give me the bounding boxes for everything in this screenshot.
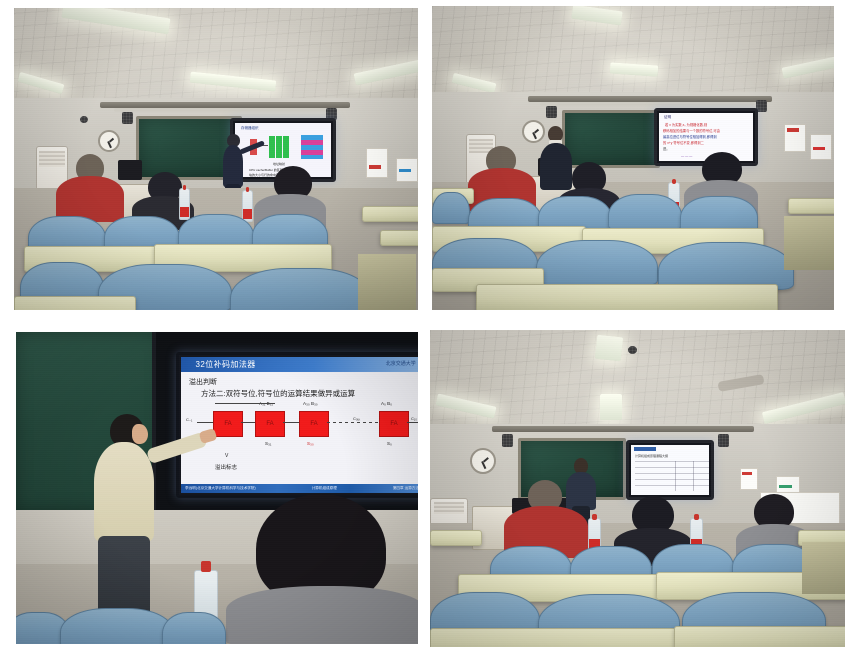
wall-poster (810, 134, 832, 160)
full-adder-block: FA (213, 411, 243, 437)
side-desk (788, 198, 834, 214)
sum-output-label: S₀ (387, 441, 392, 446)
slide-surface: 计算机组成原理课程大纲 (631, 445, 709, 495)
water-bottle (179, 188, 190, 220)
slide-bullet-2: 方法二:双符号位,符号位的运算结果做异或运算 (201, 388, 355, 399)
poster-bar (813, 147, 825, 150)
slide-bullet-1: 溢出判断 (189, 377, 217, 387)
side-desk (380, 230, 418, 246)
sum-output-label: S₃₀ (307, 441, 314, 446)
slide-body-line: 移码相加的结果与一个数的符号位,可由 (663, 128, 720, 133)
wall-speaker (546, 106, 557, 118)
wall-rail (540, 102, 754, 106)
chair (162, 612, 226, 644)
slide-input-label: A₃₀ B₃₀ (303, 401, 318, 406)
photo-grid-sheet: 存储器组织 地址映射 CPU cache/Buffer 的区别与联系 块的大小与… (0, 0, 845, 647)
side-desk (362, 206, 418, 222)
desk (476, 284, 778, 310)
carry-wire (241, 422, 255, 423)
slide-title-text: 计算机组成原理课程大纲 (635, 454, 668, 458)
photo-top-left: 存储器组织 地址映射 CPU cache/Buffer 的区别与联系 块的大小与… (14, 8, 418, 310)
poster-bar (742, 472, 752, 475)
slide-title-text: 32位补码加法器 (181, 359, 256, 370)
slide-body-line: 若 x 为实数,x₀ 为规格化数,则 (665, 122, 707, 127)
slide-table (635, 461, 709, 491)
university-logo: 北京交通大学 (386, 360, 416, 367)
chair (680, 196, 758, 232)
full-adder-block: FA (379, 411, 409, 437)
bottle-cap (592, 514, 597, 519)
bottle-cap (246, 187, 250, 192)
lecturer-face (132, 424, 148, 444)
footer-right: 第四章 运算方法 (389, 486, 418, 491)
carry-wire (407, 422, 418, 423)
wall-speaker (718, 434, 729, 447)
desk-edge (784, 216, 834, 270)
photo-top-right: 证明 若 x 为实数,x₀ 为规格化数,则 移码相加的结果与一个数的符号位,可由… (432, 6, 834, 310)
chair (536, 240, 658, 286)
ceiling-lamp (595, 335, 623, 362)
security-camera-icon (628, 346, 637, 354)
attendee-red-shirt (504, 480, 588, 556)
wall-poster (366, 148, 388, 178)
slide-block-green (283, 136, 289, 158)
water-bottle (242, 190, 253, 222)
bottle-cap (201, 561, 211, 573)
full-adder-block: FA (299, 411, 329, 437)
carry-wire (283, 422, 299, 423)
desk (430, 628, 676, 647)
poster-bar (779, 485, 792, 488)
slide-body-line: 的 x+y 符号位不变,即得到二 (663, 140, 704, 145)
wall-poster (784, 124, 806, 152)
slide-footer: 李远明(北京交通大学计算机科学与技术学院) 计算机组成原理 第四章 运算方法 (181, 484, 418, 493)
slide-block-table (301, 135, 323, 159)
slide-title-text: 证明 (664, 115, 671, 120)
carry-label: C₀ᵤₜ (353, 416, 360, 421)
attendee-body (226, 586, 418, 644)
wall-speaker (122, 112, 133, 124)
bottle-cap (694, 514, 699, 519)
wall-poster (740, 468, 758, 490)
desk-edge (358, 254, 416, 310)
bottle-cap (672, 179, 676, 184)
slide-table-col (675, 461, 676, 491)
overflow-flag-label: V (225, 453, 228, 459)
slide-title-bar: 32位补码加法器 (181, 357, 418, 372)
attendee-foreground (226, 494, 418, 644)
feedback-wire (215, 403, 275, 404)
desk (14, 296, 136, 310)
chair (60, 608, 174, 644)
lecturer-body (94, 442, 154, 542)
desk (674, 626, 845, 647)
wall-rail (114, 108, 334, 112)
photo-bottom-left: 32位补码加法器 北京交通大学 溢出判断 方法二:双符号位,符号位的运算结果做异… (16, 332, 418, 644)
bottle-label (180, 207, 189, 217)
poster-bar (399, 169, 411, 172)
ceiling-lamp (600, 394, 622, 420)
wall-speaker (502, 434, 513, 447)
full-adder-block: FA (255, 411, 285, 437)
presentation-screen: 计算机组成原理课程大纲 (626, 440, 714, 500)
carry-label: C₁₀ (411, 416, 417, 421)
poster-bar (787, 128, 799, 132)
slide-table-col (693, 461, 694, 491)
footer-center: 计算机组成原理 (308, 486, 341, 491)
presentation-screen: 32位补码加法器 北京交通大学 溢出判断 方法二:双符号位,符号位的运算结果做异… (176, 352, 418, 498)
slide-input-label: A₀ B₀ (381, 401, 392, 406)
slide-title-text: 存储器组织 (241, 126, 259, 131)
slide-block-green (269, 136, 275, 158)
slide-logo-bar (634, 447, 656, 451)
chair (432, 192, 470, 224)
slide-body-line: 最高位进位与符号位相加得到,即得到 (663, 134, 717, 139)
chair (230, 268, 372, 310)
side-desk (430, 530, 482, 546)
chair (658, 242, 794, 290)
footer-left: 李远明(北京交通大学计算机科学与技术学院) (181, 486, 260, 491)
slide-body-line: 进。 (663, 146, 670, 151)
security-camera (80, 116, 88, 123)
chair (608, 194, 682, 230)
carry-wire (327, 422, 379, 423)
chalkboard (562, 110, 660, 168)
slide-surface: 32位补码加法器 北京交通大学 溢出判断 方法二:双符号位,符号位的运算结果做异… (181, 357, 418, 493)
attendee-red-shirt (54, 154, 124, 220)
sum-output-label: S₃₁ (265, 441, 271, 446)
poster-bar (369, 165, 381, 169)
wall-clock (98, 130, 120, 152)
wall-clock (470, 448, 496, 474)
desk-edge (802, 542, 845, 594)
wall-poster (396, 158, 418, 182)
carry-label: C₋₁ (186, 417, 192, 422)
bottle-label (243, 209, 252, 219)
photo-bottom-right: 计算机组成原理课程大纲 (430, 330, 845, 647)
carry-wire (197, 422, 213, 423)
bottle-cap (183, 185, 187, 190)
slide-block-green (276, 136, 282, 158)
overflow-caption: 溢出标志 (215, 463, 237, 471)
wall-rail (492, 426, 754, 432)
